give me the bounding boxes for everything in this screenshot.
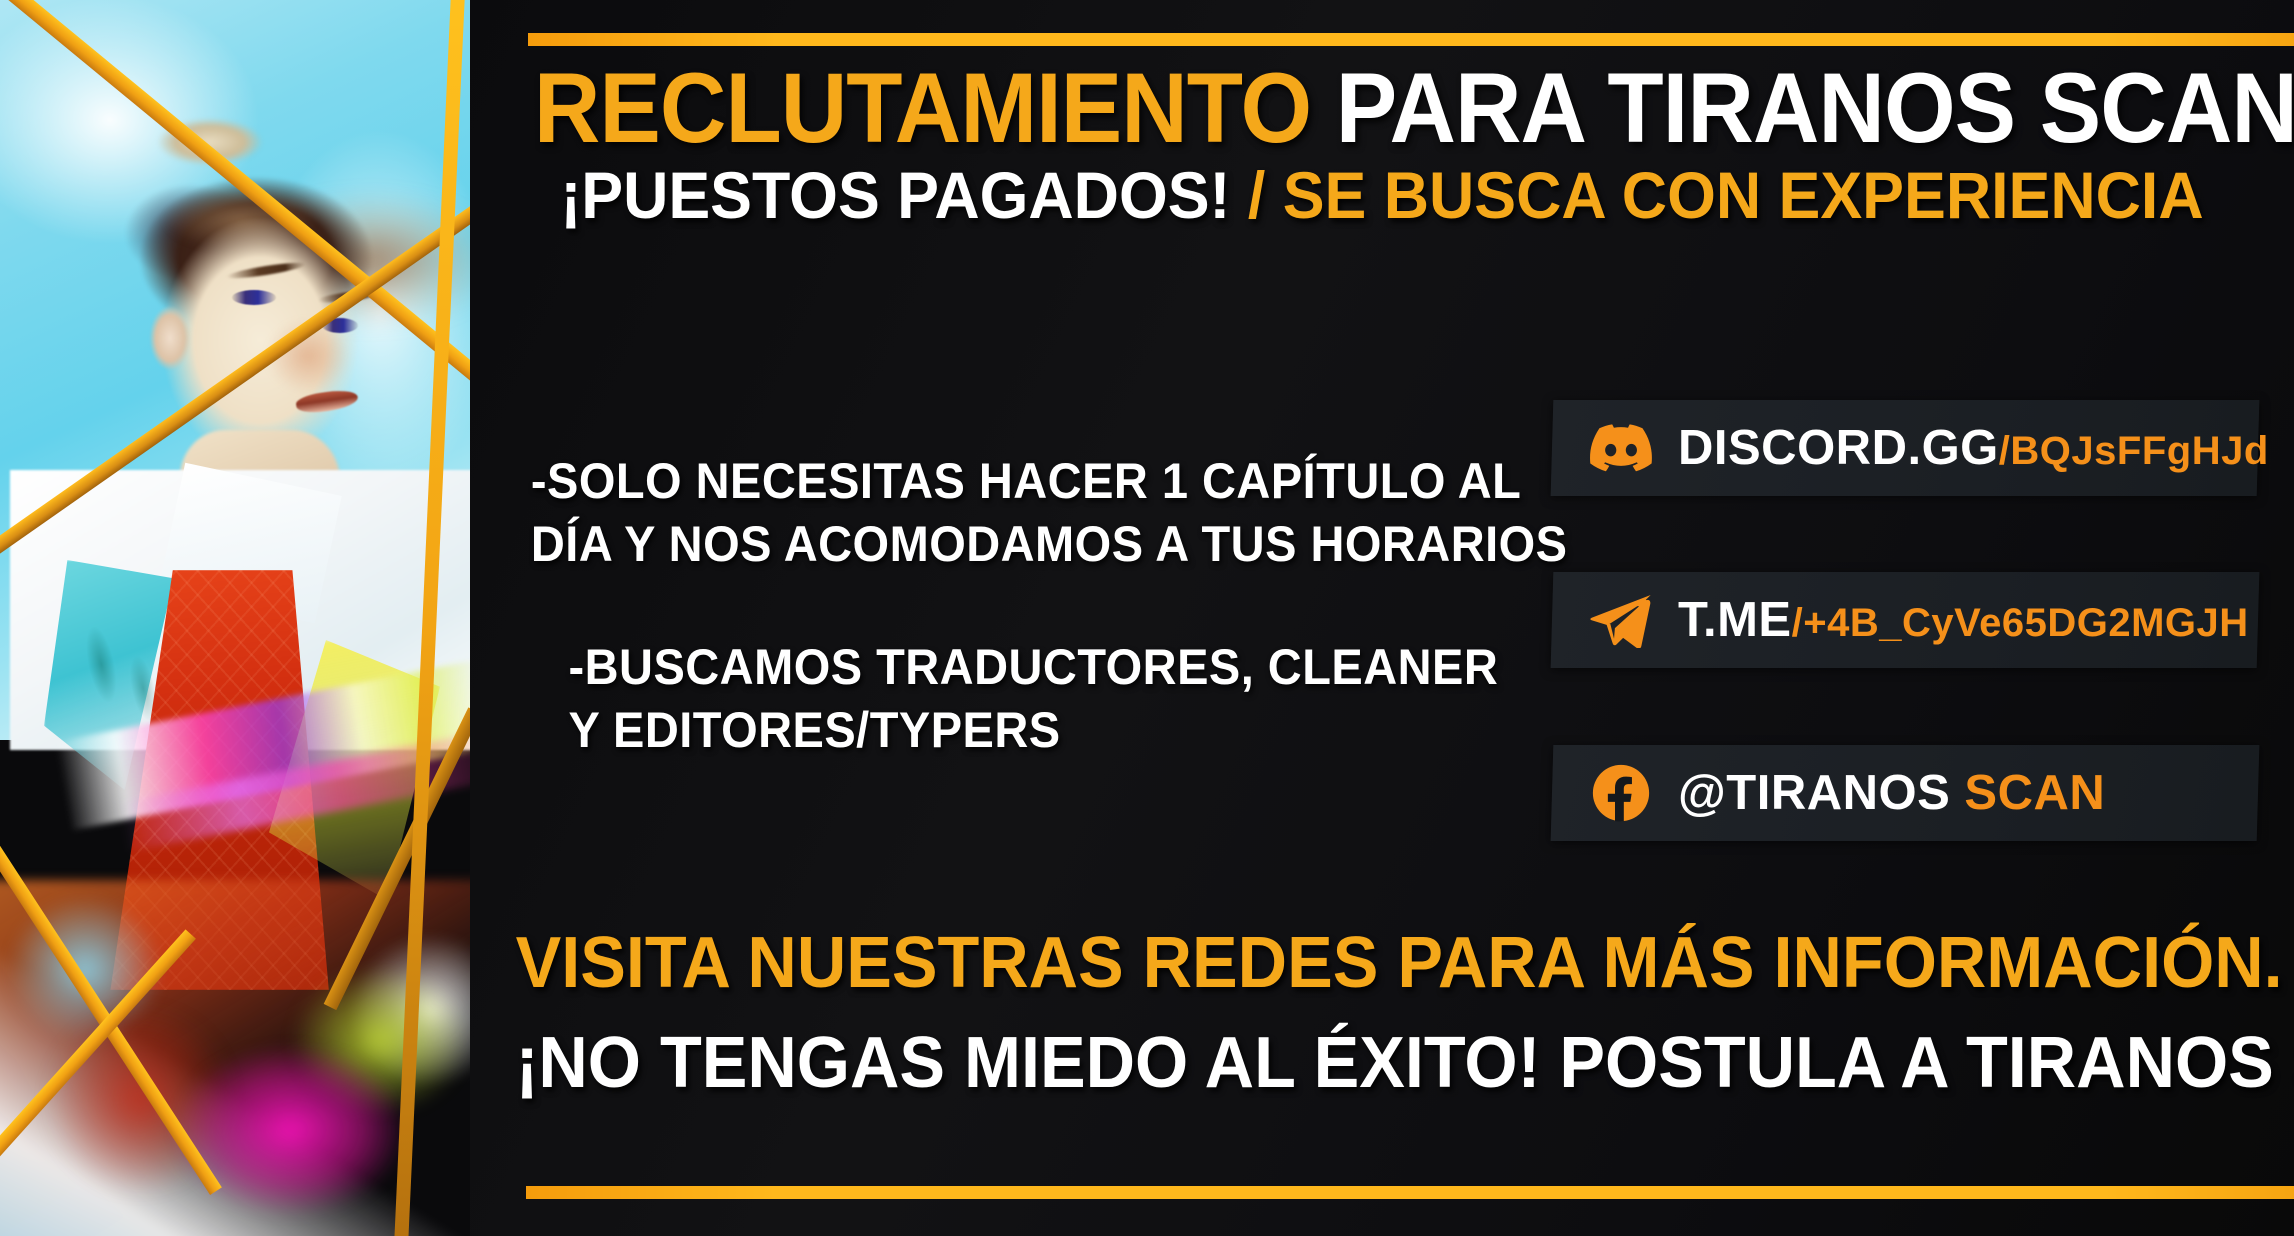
headline-white-part: PARA TIRANOS SCAN [1311,52,2294,163]
cta-line-2: ¡NO TENGAS MIEDO AL ÉXITO! POSTULA A TIR… [516,1022,2249,1104]
gold-rule-top [528,33,2294,46]
subheadline: ¡PUESTOS PAGADOS! / SE BUSCA CON EXPERIE… [516,162,2249,228]
gold-rule-bottom [526,1186,2294,1199]
body-line: Y EDITORES/TYPERS [569,699,1500,762]
artwork-magenta-blob [150,1010,480,1236]
body-text-block: -SOLO NECESITAS HACER 1 CAPÍTULO AL DÍA … [531,450,1499,762]
subheadline-gold-part: / SE BUSCA CON EXPERIENCIA [1230,158,2203,232]
contact-row-facebook[interactable]: @TIRANOS SCAN [1551,745,2260,841]
artwork-character-eye [232,290,276,305]
contact-label-handle: /+4B_CyVe65DG2MGJH [1792,601,2249,645]
contact-inner: @TIRANOS SCAN [1552,762,2258,824]
contact-label-main: T.ME [1678,593,1792,647]
artwork-character-ear [146,300,194,376]
content-area: RECLUTAMIENTO PARA TIRANOS SCAN ¡PUESTOS… [470,0,2294,1236]
telegram-icon [1590,589,1652,651]
discord-icon [1590,417,1652,479]
contact-label-discord: DISCORD.GG/BQJsFFgHJd [1678,420,2269,476]
contact-label-main: DISCORD.GG [1678,421,1999,475]
recruitment-banner: RECLUTAMIENTO PARA TIRANOS SCAN ¡PUESTOS… [0,0,2294,1236]
subheadline-white-part: ¡PUESTOS PAGADOS! [560,158,1230,232]
body-line: -SOLO NECESITAS HACER 1 CAPÍTULO AL [531,450,1499,513]
contact-row-telegram[interactable]: T.ME/+4B_CyVe65DG2MGJH [1551,572,2260,668]
contact-label-main: @TIRANOS [1678,766,1950,820]
contact-inner: T.ME/+4B_CyVe65DG2MGJH [1552,589,2258,651]
contact-label-facebook: @TIRANOS SCAN [1678,765,2105,821]
body-paragraph-roles: -BUSCAMOS TRADUCTORES, CLEANER Y EDITORE… [531,636,1499,762]
headline-gold-part: RECLUTAMIENTO [534,52,1311,163]
contact-row-discord[interactable]: DISCORD.GG/BQJsFFgHJd [1551,400,2260,496]
contact-label-telegram: T.ME/+4B_CyVe65DG2MGJH [1678,592,2249,648]
body-line: -BUSCAMOS TRADUCTORES, CLEANER [569,636,1500,699]
headline: RECLUTAMIENTO PARA TIRANOS SCAN [534,58,2230,157]
body-line: DÍA Y NOS ACOMODAMOS A TUS HORARIOS [531,513,1499,576]
contact-label-suffix: SCAN [1950,766,2105,820]
cta-line-1: VISITA NUESTRAS REDES PARA MÁS INFORMACI… [516,922,2249,1004]
facebook-icon [1590,762,1652,824]
contact-label-code: /BQJsFFgHJd [1999,429,2269,473]
contact-inner: DISCORD.GG/BQJsFFgHJd [1552,417,2258,479]
body-paragraph-benefits: -SOLO NECESITAS HACER 1 CAPÍTULO AL DÍA … [531,450,1499,576]
